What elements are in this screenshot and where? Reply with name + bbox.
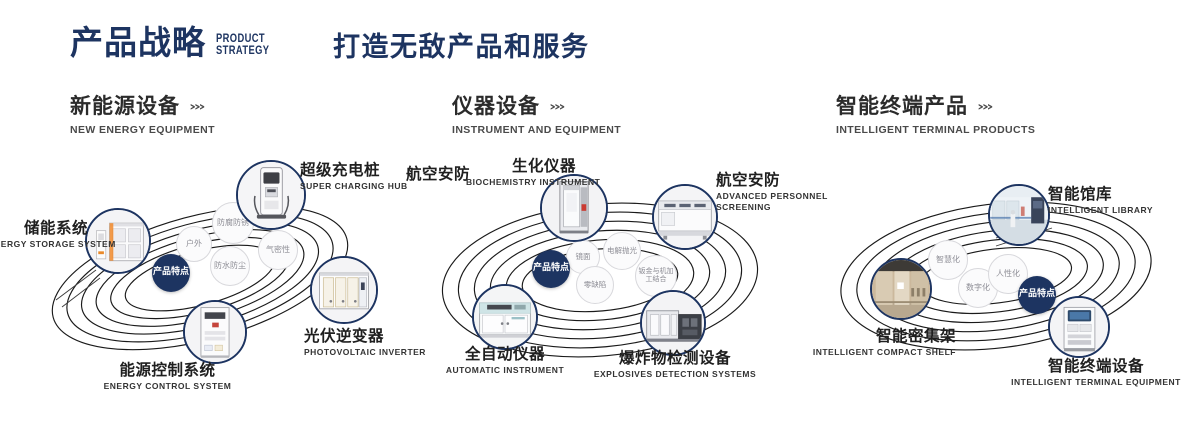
product-feature-badge: 产品特点 [152,254,190,292]
node-label-cn: 智能密集架 [776,328,956,345]
section-title-cn: 仪器设备 [452,96,540,117]
node-label-en: BIOCHEMISTRY INSTRUMENT [466,177,576,188]
node-label-cn: 爆炸物检测设备 [585,350,765,367]
feature-bubble: 气密性 [258,230,298,270]
diagram-group-instrument: 航空安防 镜面 电解抛光 零缺陷 钣金与机加工结合 产品特点 生化仪器 BIOC… [400,150,800,412]
node-automatic-instrument[interactable] [472,284,538,350]
section-title-en: INSTRUMENT AND EQUIPMENT [452,124,621,136]
feature-bubble: 电解抛光 [603,232,641,270]
product-feature-badge: 产品特点 [532,250,570,288]
chevrons-right-icon: ››› [977,100,991,113]
feature-bubble: 零缺陷 [576,266,614,304]
detection-rack-icon [642,292,704,354]
section-title-cn: 智能终端产品 [836,96,968,117]
charging-pile-icon [238,162,304,228]
headline: 打造无敌产品和服务 [333,34,590,61]
section-title-en: INTELLIGENT TERMINAL PRODUCTS [836,124,1035,136]
node-label-cn: 智能馆库 [1048,186,1188,203]
node-label-cn: 能源控制系统 [80,362,255,379]
node-super-charging-hub[interactable] [236,160,306,230]
node-label-intelligent-terminal-equipment: 智能终端设备 INTELLIGENT TERMINAL EQUIPMENT [996,358,1196,388]
auto-analyzer-icon [474,286,536,348]
chevrons-right-icon: ››› [189,100,203,113]
screening-machine-icon [654,186,716,248]
node-label-en: INTELLIGENT TERMINAL EQUIPMENT [996,377,1196,388]
section-title-en: NEW ENERGY EQUIPMENT [70,124,215,136]
brand-subtitle-line2: STRATEGY [216,44,269,56]
node-label-en: ENERGY STORAGE SYSTEM [0,239,88,250]
node-intelligent-compact-shelf[interactable] [870,258,932,320]
brand-block: 产品战略 PRODUCT STRATEGY [70,26,284,59]
brand-subtitle: PRODUCT STRATEGY [216,32,269,59]
section-header-intelligent-terminal: 智能终端产品 ››› INTELLIGENT TERMINAL PRODUCTS [836,96,1035,136]
node-label-explosives-detection-systems: 爆炸物检测设备 EXPLOSIVES DETECTION SYSTEMS [585,350,765,380]
node-label-cn: 智能终端设备 [996,358,1196,375]
compact-shelf-icon [872,260,930,318]
diagram-group-new-energy: 户外 防腐防锈 气密性 防水防尘 产品特点 储能系统 EN [0,150,400,412]
node-explosives-detection-systems[interactable] [640,290,706,356]
section-title-cn: 新能源设备 [70,96,180,117]
node-label-en: INTELLIGENT COMPACT SHELF [776,347,956,358]
node-label-en: INTELLIGENT LIBRARY [1048,205,1188,216]
inverter-cabinet-icon [312,258,376,322]
section-header-new-energy: 新能源设备 ››› NEW ENERGY EQUIPMENT [70,96,215,136]
product-strategy-infographic: 产品战略 PRODUCT STRATEGY 打造无敌产品和服务 新能源设备 ››… [0,0,1200,422]
control-cabinet-icon [185,302,245,362]
node-label-energy-control-system: 能源控制系统 ENERGY CONTROL SYSTEM [80,362,255,392]
node-label-cn: 全自动仪器 [420,346,590,363]
node-intelligent-terminal-equipment[interactable] [1048,296,1110,358]
page-header: 产品战略 PRODUCT STRATEGY 打造无敌产品和服务 [0,0,1200,90]
node-label-automatic-instrument: 全自动仪器 AUTOMATIC INSTRUMENT [420,346,590,376]
node-label-cn: 生化仪器 [466,158,576,175]
node-photovoltaic-inverter[interactable] [310,256,378,324]
node-label-intelligent-library: 智能馆库 INTELLIGENT LIBRARY [1048,186,1188,216]
terminal-kiosk-icon [1050,298,1108,356]
node-label-en: AUTOMATIC INSTRUMENT [420,365,590,376]
node-intelligent-library[interactable] [988,184,1050,246]
node-label-biochemistry-instrument: 生化仪器 BIOCHEMISTRY INSTRUMENT [466,158,576,188]
node-label-en: ENERGY CONTROL SYSTEM [80,381,255,392]
page-title: 产品战略 [70,26,206,59]
node-label-intelligent-compact-shelf: 智能密集架 INTELLIGENT COMPACT SHELF [776,328,956,358]
chevrons-right-icon: ››› [549,100,563,113]
node-label-cn: 储能系统 [0,220,88,237]
node-label-energy-storage-system: 储能系统 ENERGY STORAGE SYSTEM [0,220,88,250]
node-advanced-personnel-screening[interactable] [652,184,718,250]
section-header-instrument: 仪器设备 ››› INSTRUMENT AND EQUIPMENT [452,96,621,136]
node-energy-control-system[interactable] [183,300,247,364]
diagram-group-intelligent-terminal: 智慧化 数字化 人性化 产品特点 智能馆库 INTELLIGENT LIBRAR… [800,150,1200,412]
node-label-en: EXPLOSIVES DETECTION SYSTEMS [585,369,765,380]
feature-bubble: 防水防尘 [210,246,250,286]
library-room-icon [990,186,1048,244]
